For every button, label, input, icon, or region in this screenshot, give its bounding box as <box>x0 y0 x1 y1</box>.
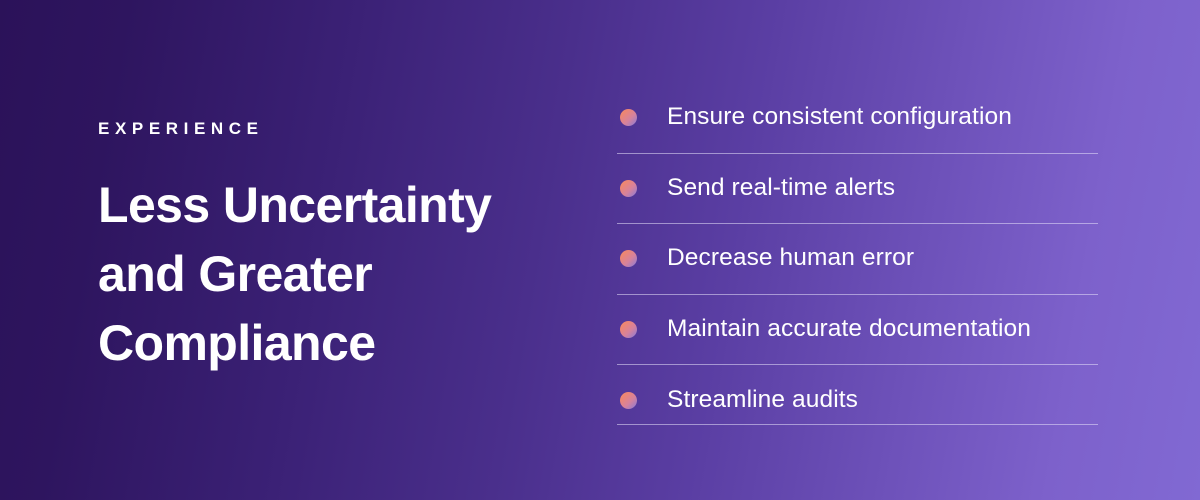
promo-slide: EXPERIENCE Less Uncertainty and Greater … <box>0 0 1200 500</box>
list-item-label: Ensure consistent configuration <box>667 104 1012 131</box>
eyebrow-label: EXPERIENCE <box>98 120 568 137</box>
list-item-label: Decrease human error <box>667 245 914 272</box>
benefits-list: Ensure consistent configuration Send rea… <box>617 83 1098 436</box>
bullet-dot-icon <box>620 321 637 338</box>
page-title: Less Uncertainty and Greater Compliance <box>98 171 568 378</box>
list-item-label: Send real-time alerts <box>667 175 895 202</box>
list-bottom-divider <box>617 424 1098 425</box>
list-item: Send real-time alerts <box>617 154 1098 225</box>
list-item-label: Streamline audits <box>667 387 858 414</box>
list-item: Maintain accurate documentation <box>617 295 1098 366</box>
headline-line-1: Less Uncertainty <box>98 171 568 240</box>
bullet-dot-icon <box>620 250 637 267</box>
list-item: Decrease human error <box>617 224 1098 295</box>
headline-line-2: and Greater <box>98 240 568 309</box>
bullet-dot-icon <box>620 180 637 197</box>
bullet-dot-icon <box>620 109 637 126</box>
headline-line-3: Compliance <box>98 309 568 378</box>
list-item-label: Maintain accurate documentation <box>667 316 1031 343</box>
headline-block: EXPERIENCE Less Uncertainty and Greater … <box>98 120 568 378</box>
list-item: Ensure consistent configuration <box>617 83 1098 154</box>
bullet-dot-icon <box>620 392 637 409</box>
